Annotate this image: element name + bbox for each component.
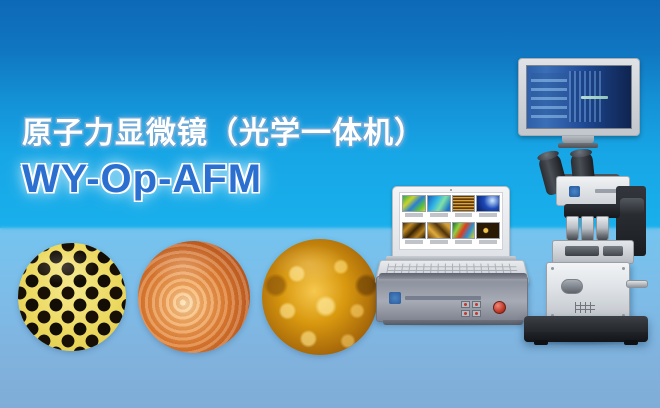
thumb-deflection-map (476, 195, 500, 221)
thumb-amplitude-map (427, 195, 451, 221)
scanner-dial[interactable] (561, 279, 583, 294)
objective-lens-3 (596, 216, 609, 242)
thumb-height-map (402, 222, 426, 248)
port-4 (472, 310, 481, 317)
thumb-force-map (452, 222, 476, 248)
monitor-stand (562, 136, 594, 143)
afm-scanner-head (546, 262, 630, 322)
connector-panel (461, 301, 481, 315)
screw-icon (622, 267, 625, 270)
laptop-screen (399, 192, 503, 250)
screw-icon (551, 267, 554, 270)
power-button[interactable] (493, 301, 506, 314)
sample-gloss (27, 247, 96, 284)
sample-stage (552, 240, 634, 264)
objective-lens-1 (566, 216, 579, 242)
laptop-lid (392, 186, 510, 258)
scanner-vent (575, 302, 595, 313)
monitor-screen (526, 65, 632, 129)
sample-surface-topography (138, 241, 250, 353)
laptop-and-controller (376, 186, 528, 320)
base-foot (624, 340, 638, 345)
brand-logo-icon (569, 186, 580, 197)
controller-base (383, 320, 523, 325)
scanner-adjust-rod[interactable] (626, 280, 648, 288)
controller-label (405, 296, 481, 300)
screen-bars (531, 73, 566, 118)
sample-image-group (18, 237, 378, 353)
port-2 (472, 301, 481, 308)
sample-gloss (271, 244, 345, 283)
thumb-grating-map (452, 195, 476, 221)
product-banner: 原子力显微镜（光学一体机） WY-Op-AFM (0, 0, 660, 408)
sample-nanopore-array (18, 243, 126, 351)
stage-slot-left (565, 246, 599, 256)
thumb-dna-strands-map (476, 222, 500, 248)
port-3 (461, 310, 470, 317)
controller-top-panel (379, 273, 527, 279)
display-monitor (518, 58, 640, 136)
sample-nanoparticle-cluster (262, 239, 378, 355)
sample-gloss (147, 245, 219, 283)
optical-afm-microscope (508, 58, 648, 338)
page-title: 原子力显微镜（光学一体机） (22, 118, 452, 150)
thumb-phase-map (402, 195, 426, 221)
stage-slot-right (603, 246, 623, 256)
objective-lens-group (566, 216, 618, 242)
granite-base (524, 316, 648, 342)
thumb-roughness-map (427, 222, 451, 248)
port-1 (461, 301, 470, 308)
cantilever-image (581, 96, 608, 99)
focus-knob[interactable] (620, 198, 644, 214)
controller-box (376, 276, 528, 322)
base-foot (534, 340, 548, 345)
webcam-icon (450, 189, 452, 191)
brand-logo-icon (389, 292, 401, 304)
